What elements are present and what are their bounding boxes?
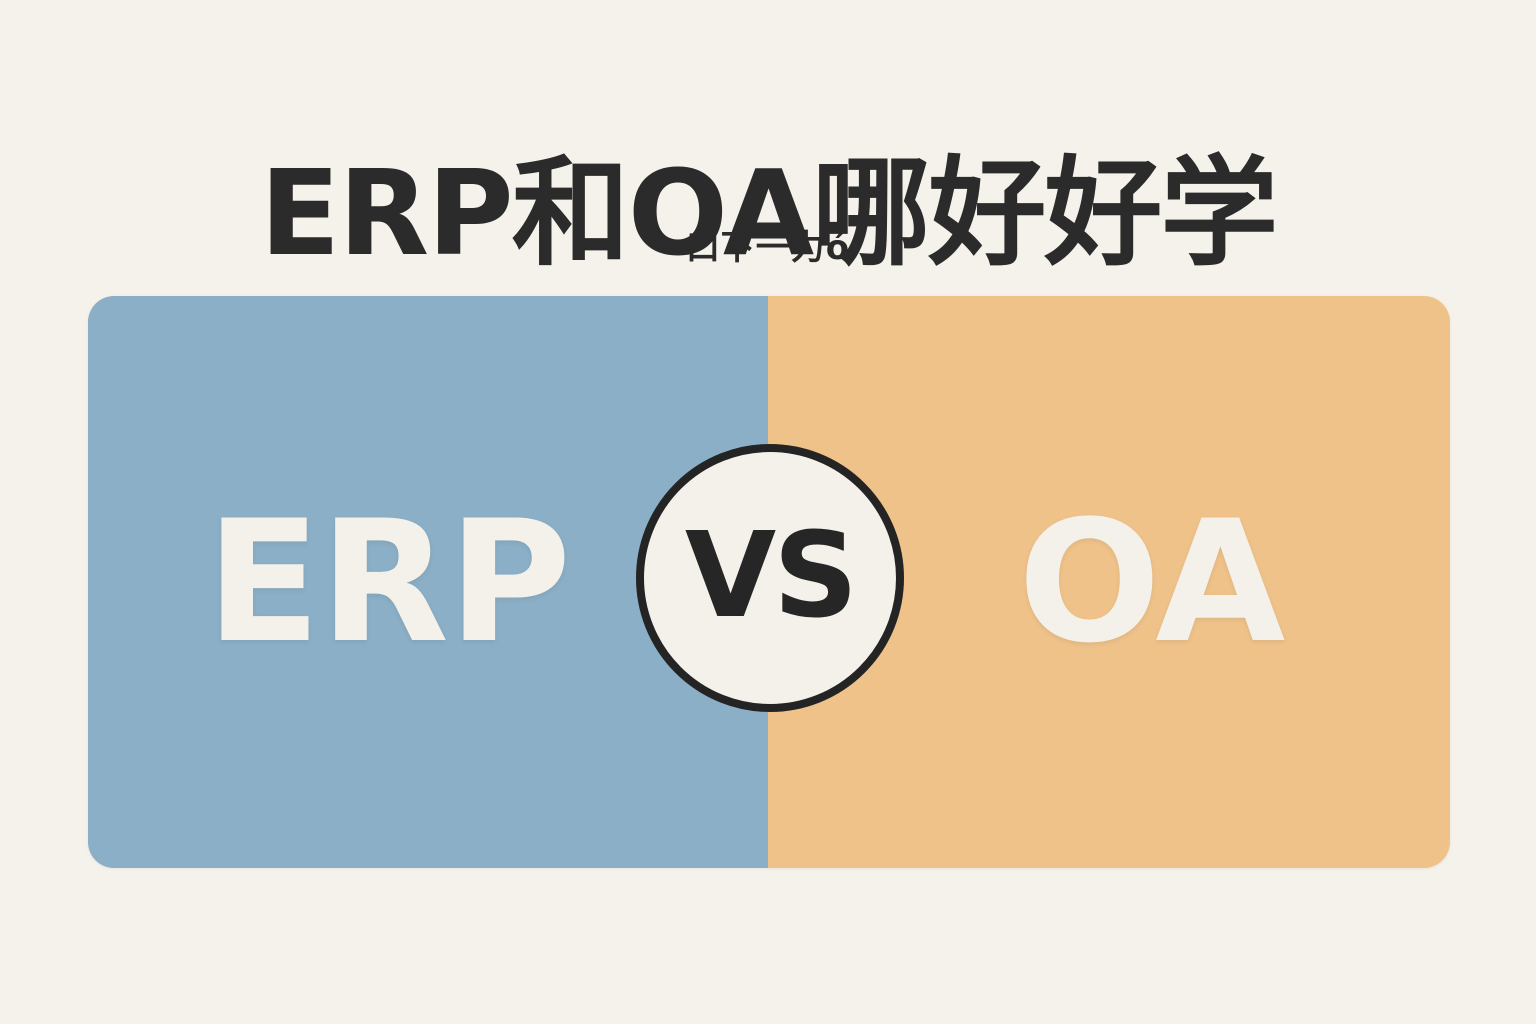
vs-badge: VS — [636, 444, 904, 712]
comparison-right-label: OA — [1018, 498, 1284, 666]
vs-badge-label: VS — [685, 516, 855, 634]
comparison-left-label: ERP — [206, 498, 570, 666]
infographic-canvas: ERP和OA哪好好学 口下一力ó ERP OA VS — [0, 0, 1536, 1024]
page-subtitle: 口下一力ó — [0, 228, 1536, 269]
